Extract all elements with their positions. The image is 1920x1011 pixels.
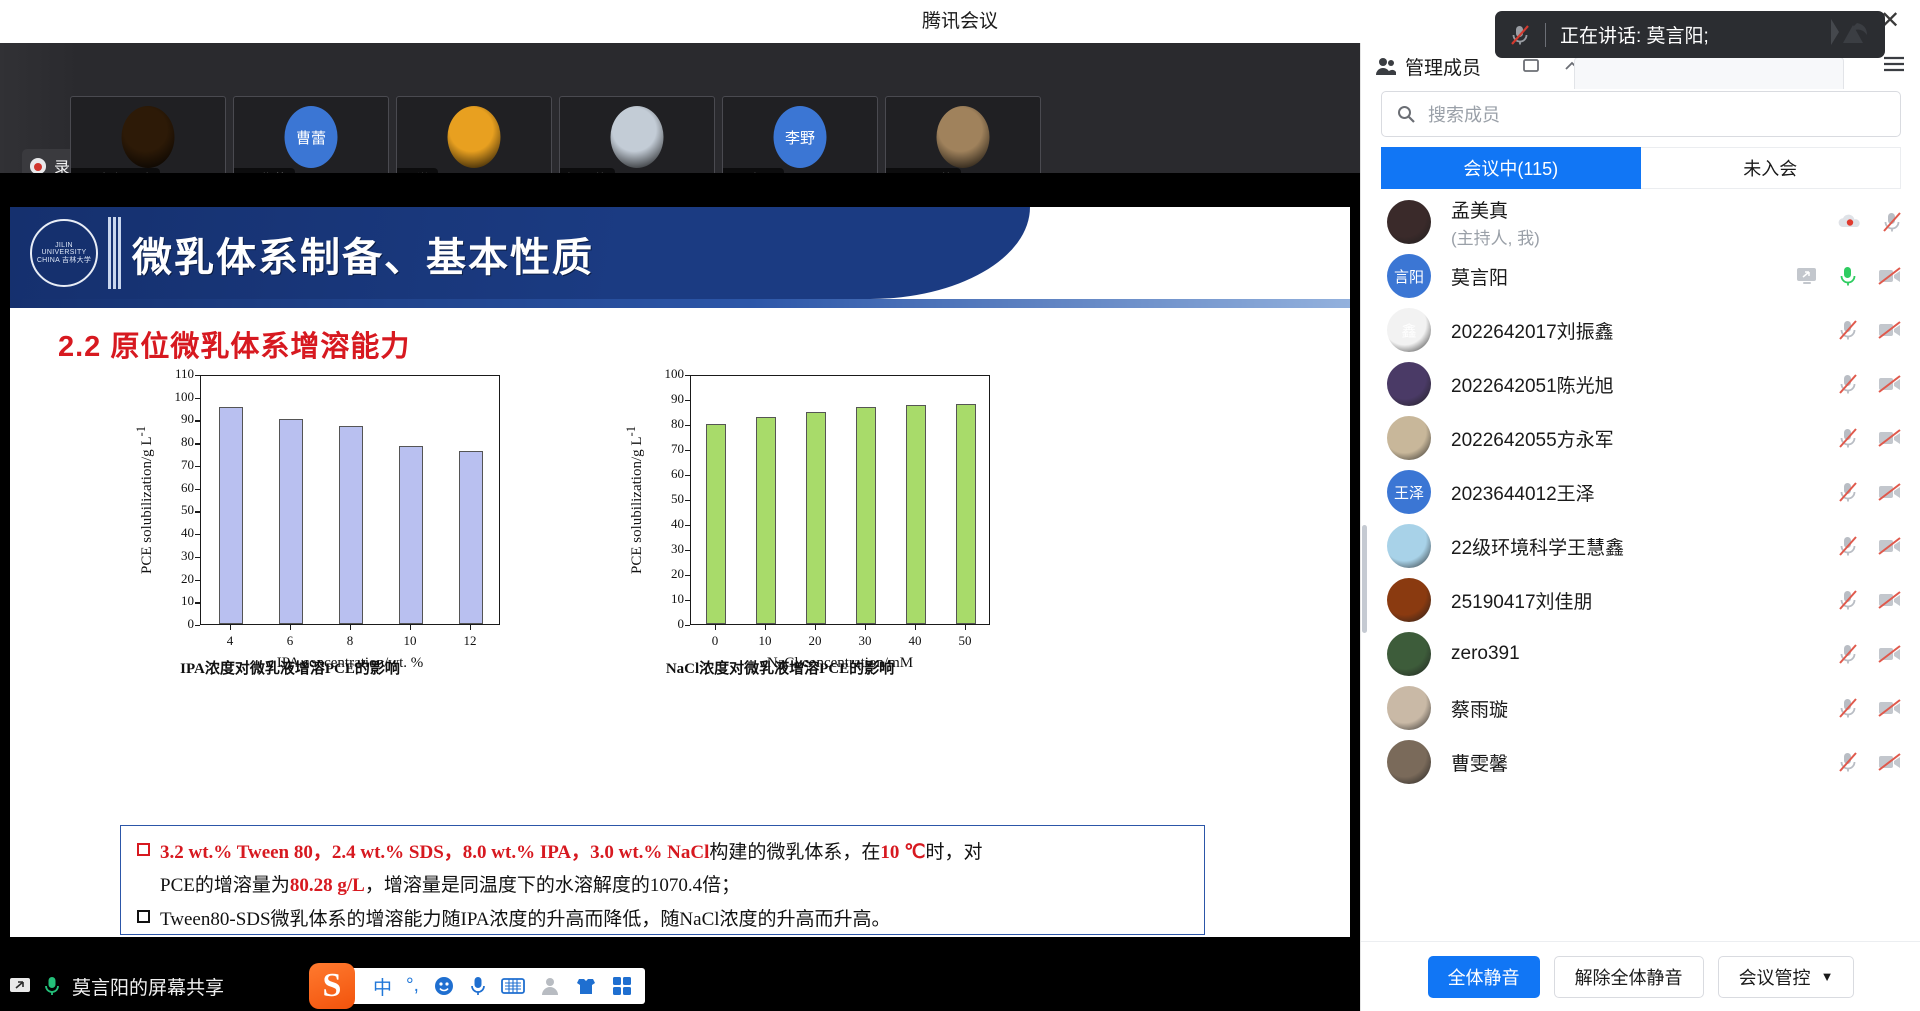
y-axis-tickmark <box>195 420 200 421</box>
ime-punctuation-icon[interactable]: °, <box>406 975 419 997</box>
x-axis-tick: 10 <box>380 633 440 649</box>
participant-name: 曹雯馨 <box>1451 749 1508 776</box>
y-axis-label: PCE solubilization/g L-1 <box>624 375 646 625</box>
participant-row[interactable]: 2022642051陈光旭 <box>1361 357 1920 411</box>
y-axis-tickmark <box>195 625 200 626</box>
avatar: 曹蕾 <box>285 106 338 168</box>
participant-name: zero391 <box>1451 643 1520 665</box>
shared-screen-region: JILIN UNIVERSITY CHINA 吉林大学 微乳体系制备、基本性质 … <box>0 173 1360 961</box>
participant-status-icons <box>1837 372 1903 396</box>
ime-toolbox-icon[interactable] <box>611 975 633 997</box>
y-axis-tick: 90 <box>152 411 194 427</box>
avatar <box>1387 740 1431 784</box>
x-axis-tick: 12 <box>440 633 500 649</box>
hamburger-icon[interactable] <box>1881 53 1907 80</box>
participant-name: 22级环境科学王慧鑫 <box>1451 533 1624 560</box>
bullet-square-icon <box>137 910 150 923</box>
slide-bullet-text: Tween80-SDS微乳体系的增溶能力随IPA浓度的升高而降低，随NaCl浓度… <box>160 905 891 934</box>
members-icon <box>1375 56 1397 78</box>
avatar: 言阳 <box>1387 254 1431 298</box>
slide-subtitle: 2.2 原位微乳体系增溶能力 <box>58 323 410 365</box>
camera-off-icon[interactable] <box>1877 643 1903 665</box>
y-axis-tickmark <box>195 534 200 535</box>
x-axis-tick: 6 <box>260 633 320 649</box>
ime-skin-icon[interactable] <box>575 975 597 997</box>
avatar <box>448 106 501 168</box>
chart-caption: NaCl浓度对微乳液增溶PCE的影响 <box>530 657 1030 678</box>
avatar <box>1387 200 1431 244</box>
slide-header-rule <box>10 299 1350 308</box>
screen-share-statusbar: 莫言阳的屏幕共享 <box>0 961 1360 1011</box>
x-axis-tickmark <box>865 625 866 630</box>
slide-conclusion-box: 3.2 wt.% Tween 80，2.4 wt.% SDS，8.0 wt.% … <box>120 825 1205 935</box>
camera-off-icon[interactable] <box>1877 535 1903 557</box>
mic-off-icon[interactable] <box>1837 426 1859 450</box>
screen-share-icon[interactable] <box>1795 265 1819 287</box>
participant-status-icons <box>1837 750 1903 774</box>
x-axis-tick: 50 <box>935 633 995 649</box>
participant-role: (主持人, 我) <box>1451 224 1540 249</box>
button-label: 会议管控 <box>1739 964 1811 990</box>
y-axis-tick: 80 <box>642 416 684 432</box>
participant-row[interactable]: 鑫2022642017刘振鑫 <box>1361 303 1920 357</box>
x-axis-tickmark <box>965 625 966 630</box>
y-axis-tick: 80 <box>152 434 194 450</box>
y-axis-tickmark <box>195 602 200 603</box>
bar <box>706 424 726 624</box>
y-axis-tick: 30 <box>152 548 194 564</box>
participant-row[interactable]: 言阳莫言阳 <box>1361 249 1920 303</box>
y-axis-label: PCE solubilization/g L-1 <box>134 375 156 625</box>
y-axis-tick: 70 <box>152 457 194 473</box>
mute-all-button[interactable]: 全体静音 <box>1428 956 1540 998</box>
y-axis-tickmark <box>195 443 200 444</box>
y-axis-tick: 40 <box>642 516 684 532</box>
slide-bullet-line: 3.2 wt.% Tween 80，2.4 wt.% SDS，8.0 wt.% … <box>137 838 1188 867</box>
bullet-square-icon <box>137 843 150 856</box>
x-axis-tickmark <box>230 625 231 630</box>
screen-share-icon <box>8 974 32 998</box>
bar <box>756 417 776 624</box>
y-axis-tickmark <box>685 450 690 451</box>
y-axis-tick: 100 <box>642 366 684 382</box>
y-axis-tickmark <box>195 375 200 376</box>
y-axis-tick: 0 <box>642 616 684 632</box>
participant-status-icons <box>1795 264 1903 288</box>
y-axis-tickmark <box>195 557 200 558</box>
mic-off-icon[interactable] <box>1837 372 1859 396</box>
ime-mode-chinese[interactable]: 中 <box>373 973 392 1000</box>
y-axis-tick: 100 <box>152 389 194 405</box>
mic-off-icon[interactable] <box>1837 642 1859 666</box>
mic-off-icon[interactable] <box>1881 210 1903 234</box>
y-axis-tickmark <box>195 580 200 581</box>
bar <box>399 446 423 624</box>
avatar <box>1387 362 1431 406</box>
y-axis-tickmark <box>685 625 690 626</box>
slide-bullet-text: 3.2 wt.% Tween 80，2.4 wt.% SDS，8.0 wt.% … <box>160 838 983 867</box>
mic-off-icon[interactable] <box>1837 318 1859 342</box>
participant-status-icons <box>1837 642 1903 666</box>
slide-header-title: 微乳体系制备、基本性质 <box>132 225 594 283</box>
camera-off-icon[interactable] <box>1877 373 1903 395</box>
participant-name: 2022642051陈光旭 <box>1451 371 1614 398</box>
ime-toolbar[interactable]: S 中 °, <box>325 968 645 1004</box>
camera-off-icon[interactable] <box>1877 697 1903 719</box>
x-axis-tickmark <box>765 625 766 630</box>
chevron-down-icon: ▼ <box>1821 969 1834 984</box>
toast-divider <box>1545 23 1546 47</box>
ime-emoji-icon[interactable] <box>433 975 455 997</box>
participant-status-icons <box>1837 534 1903 558</box>
y-axis-tick: 60 <box>152 480 194 496</box>
ime-account-icon[interactable] <box>539 975 561 997</box>
mic-off-icon[interactable] <box>1837 750 1859 774</box>
y-axis-tick: 20 <box>152 571 194 587</box>
slide-bullet-line: Tween80-SDS微乳体系的增溶能力随IPA浓度的升高而降低，随NaCl浓度… <box>137 905 1188 934</box>
y-axis-tick: 30 <box>642 541 684 557</box>
y-axis-tickmark <box>685 375 690 376</box>
sidebar-title: 管理成员 <box>1405 53 1481 80</box>
participant-name: 孟美真(主持人, 我) <box>1451 196 1540 249</box>
y-axis-tickmark <box>685 600 690 601</box>
participant-status-icons <box>1837 480 1903 504</box>
button-label: 解除全体静音 <box>1575 964 1683 990</box>
sogou-ime-logo-icon[interactable]: S <box>309 963 355 1009</box>
meeting-control-button[interactable]: 会议管控▼ <box>1718 956 1855 998</box>
avatar <box>1387 524 1431 568</box>
sidebar-tab-in-meeting[interactable]: 会议中(115) <box>1381 147 1641 189</box>
plot-area <box>690 375 990 625</box>
share-status-label: 莫言阳的屏幕共享 <box>72 973 224 1000</box>
participant-row[interactable]: 蔡雨璇 <box>1361 681 1920 735</box>
participant-status-icons <box>1837 426 1903 450</box>
y-axis-tickmark <box>195 511 200 512</box>
bar <box>219 407 243 624</box>
camera-off-icon[interactable] <box>1877 481 1903 503</box>
plot-area <box>200 375 500 625</box>
bar <box>856 407 876 624</box>
participant-name: 2023644012王泽 <box>1451 479 1595 506</box>
mic-off-icon[interactable] <box>1837 588 1859 612</box>
avatar <box>937 106 990 168</box>
participant-name: 莫言阳 <box>1451 263 1508 290</box>
bar <box>339 426 363 624</box>
avatar <box>1387 686 1431 730</box>
university-logo-icon: JILIN UNIVERSITY CHINA 吉林大学 <box>30 219 98 287</box>
avatar: 王泽 <box>1387 470 1431 514</box>
y-axis-tickmark <box>685 425 690 426</box>
x-axis-tickmark <box>715 625 716 630</box>
slide-header: JILIN UNIVERSITY CHINA 吉林大学 微乳体系制备、基本性质 <box>10 207 1350 299</box>
mic-off-icon <box>1509 23 1531 47</box>
y-axis-tickmark <box>195 398 200 399</box>
x-axis-tickmark <box>470 625 471 630</box>
mic-on-green-icon[interactable] <box>1837 264 1859 288</box>
members-sidebar: 管理成员 搜索成员 会议中(115)未入会 孟美真(主持人, 我) 言阳 <box>1360 43 1920 1011</box>
y-axis-tick: 50 <box>642 491 684 507</box>
avatar <box>1387 632 1431 676</box>
sidebar-footer: 全体静音解除全体静音会议管控▼ <box>1361 941 1920 1011</box>
recording-icon <box>30 158 46 174</box>
x-axis-tick: 8 <box>320 633 380 649</box>
participant-name: 25190417刘佳朋 <box>1451 587 1593 614</box>
x-axis-tickmark <box>815 625 816 630</box>
mic-off-icon[interactable] <box>1837 534 1859 558</box>
camera-off-icon[interactable] <box>1877 265 1903 287</box>
bar <box>806 412 826 624</box>
y-axis-tick: 40 <box>152 525 194 541</box>
y-axis-tick: 90 <box>642 391 684 407</box>
slide-header-bars <box>108 217 120 289</box>
participant-name: 蔡雨璇 <box>1451 695 1508 722</box>
chart-nacl: 010203040506070809010001020304050NaCl co… <box>530 367 1030 687</box>
speaking-text: 正在讲话: 莫言阳; <box>1560 21 1813 48</box>
participant-row[interactable]: 2022642055方永军 <box>1361 411 1920 465</box>
sidebar-tabs: 会议中(115)未入会 <box>1381 147 1901 189</box>
avatar <box>122 106 175 168</box>
participant-row[interactable]: 曹雯馨 <box>1361 735 1920 789</box>
y-axis-tick: 10 <box>642 591 684 607</box>
x-axis-tick: 4 <box>200 633 260 649</box>
participant-video-strip: 录制中 陈夕兴池曹蕾 曹蕾张微赵一莲李野 李野 周晓薇 <box>0 43 1360 173</box>
camera-off-icon[interactable] <box>1877 319 1903 341</box>
y-axis-tickmark <box>685 575 690 576</box>
y-axis-tickmark <box>685 475 690 476</box>
unmute-all-button[interactable]: 解除全体静音 <box>1554 956 1704 998</box>
y-axis-tick: 70 <box>642 441 684 457</box>
mic-off-icon[interactable] <box>1837 480 1859 504</box>
slide-bullet-line: PCE的增溶量为80.28 g/L，增溶量是同温度下的水溶解度的1070.4倍； <box>160 871 1188 900</box>
y-axis-tick: 0 <box>152 616 194 632</box>
camera-off-icon[interactable] <box>1877 751 1903 773</box>
bar <box>956 404 976 624</box>
search-icon <box>1396 104 1416 124</box>
participant-status-icons <box>1837 696 1903 720</box>
avatar: 李野 <box>774 106 827 168</box>
sidebar-title-group: 管理成员 <box>1375 53 1481 80</box>
search-input[interactable]: 搜索成员 <box>1381 91 1901 137</box>
bar <box>459 451 483 624</box>
y-axis-tick: 110 <box>152 366 194 382</box>
y-axis-tickmark <box>685 525 690 526</box>
y-axis-tickmark <box>195 466 200 467</box>
y-axis-tick: 60 <box>642 466 684 482</box>
sidebar-tab-not-joined[interactable]: 未入会 <box>1641 147 1902 189</box>
y-axis-tickmark <box>685 400 690 401</box>
mic-off-icon[interactable] <box>1837 696 1859 720</box>
participant-row[interactable]: 25190417刘佳朋 <box>1361 573 1920 627</box>
popout-icon[interactable] <box>1521 55 1543 77</box>
participant-name: 2022642055方永军 <box>1451 425 1614 452</box>
y-axis-tick: 10 <box>152 593 194 609</box>
record-cloud-icon[interactable] <box>1837 211 1863 233</box>
collapse-arrow-icon[interactable] <box>1827 17 1871 52</box>
participant-row[interactable]: zero391 <box>1361 627 1920 681</box>
presentation-slide: JILIN UNIVERSITY CHINA 吉林大学 微乳体系制备、基本性质 … <box>10 207 1350 937</box>
participant-list[interactable]: 孟美真(主持人, 我) 言阳莫言阳 鑫2022642017刘振鑫 2022642… <box>1361 195 1920 941</box>
sidebar-tab-chip[interactable] <box>1574 57 1844 89</box>
chart-caption: IPA浓度对微乳液增溶PCE的影响 <box>40 657 540 678</box>
avatar <box>1387 578 1431 622</box>
participant-name: 2022642017刘振鑫 <box>1451 317 1614 344</box>
participant-status-icons <box>1837 588 1903 612</box>
camera-off-icon[interactable] <box>1877 427 1903 449</box>
avatar: 鑫 <box>1387 308 1431 352</box>
bar <box>906 405 926 624</box>
avatar <box>611 106 664 168</box>
search-placeholder: 搜索成员 <box>1428 101 1500 127</box>
mic-on-icon <box>42 974 62 998</box>
bar <box>279 419 303 624</box>
y-axis-tickmark <box>685 500 690 501</box>
participant-row[interactable]: 22级环境科学王慧鑫 <box>1361 519 1920 573</box>
x-axis-tickmark <box>350 625 351 630</box>
ime-voice-icon[interactable] <box>469 975 487 997</box>
y-axis-tick: 20 <box>642 566 684 582</box>
participant-status-icons <box>1837 210 1903 234</box>
participant-status-icons <box>1837 318 1903 342</box>
x-axis-tickmark <box>290 625 291 630</box>
button-label: 全体静音 <box>1448 964 1520 990</box>
y-axis-tickmark <box>685 550 690 551</box>
y-axis-tickmark <box>195 489 200 490</box>
participant-row[interactable]: 王泽2023644012王泽 <box>1361 465 1920 519</box>
chart-ipa: 01020304050607080901001104681012IPA conc… <box>40 367 540 687</box>
x-axis-tickmark <box>410 625 411 630</box>
y-axis-tick: 50 <box>152 502 194 518</box>
speaking-toast[interactable]: 正在讲话: 莫言阳; <box>1495 11 1885 58</box>
x-axis-tickmark <box>915 625 916 630</box>
slide-bullet-text: PCE的增溶量为80.28 g/L，增溶量是同温度下的水溶解度的1070.4倍； <box>160 871 740 900</box>
ime-keyboard-icon[interactable] <box>501 976 525 996</box>
camera-off-icon[interactable] <box>1877 589 1903 611</box>
avatar <box>1387 416 1431 460</box>
participant-row[interactable]: 孟美真(主持人, 我) <box>1361 195 1920 249</box>
